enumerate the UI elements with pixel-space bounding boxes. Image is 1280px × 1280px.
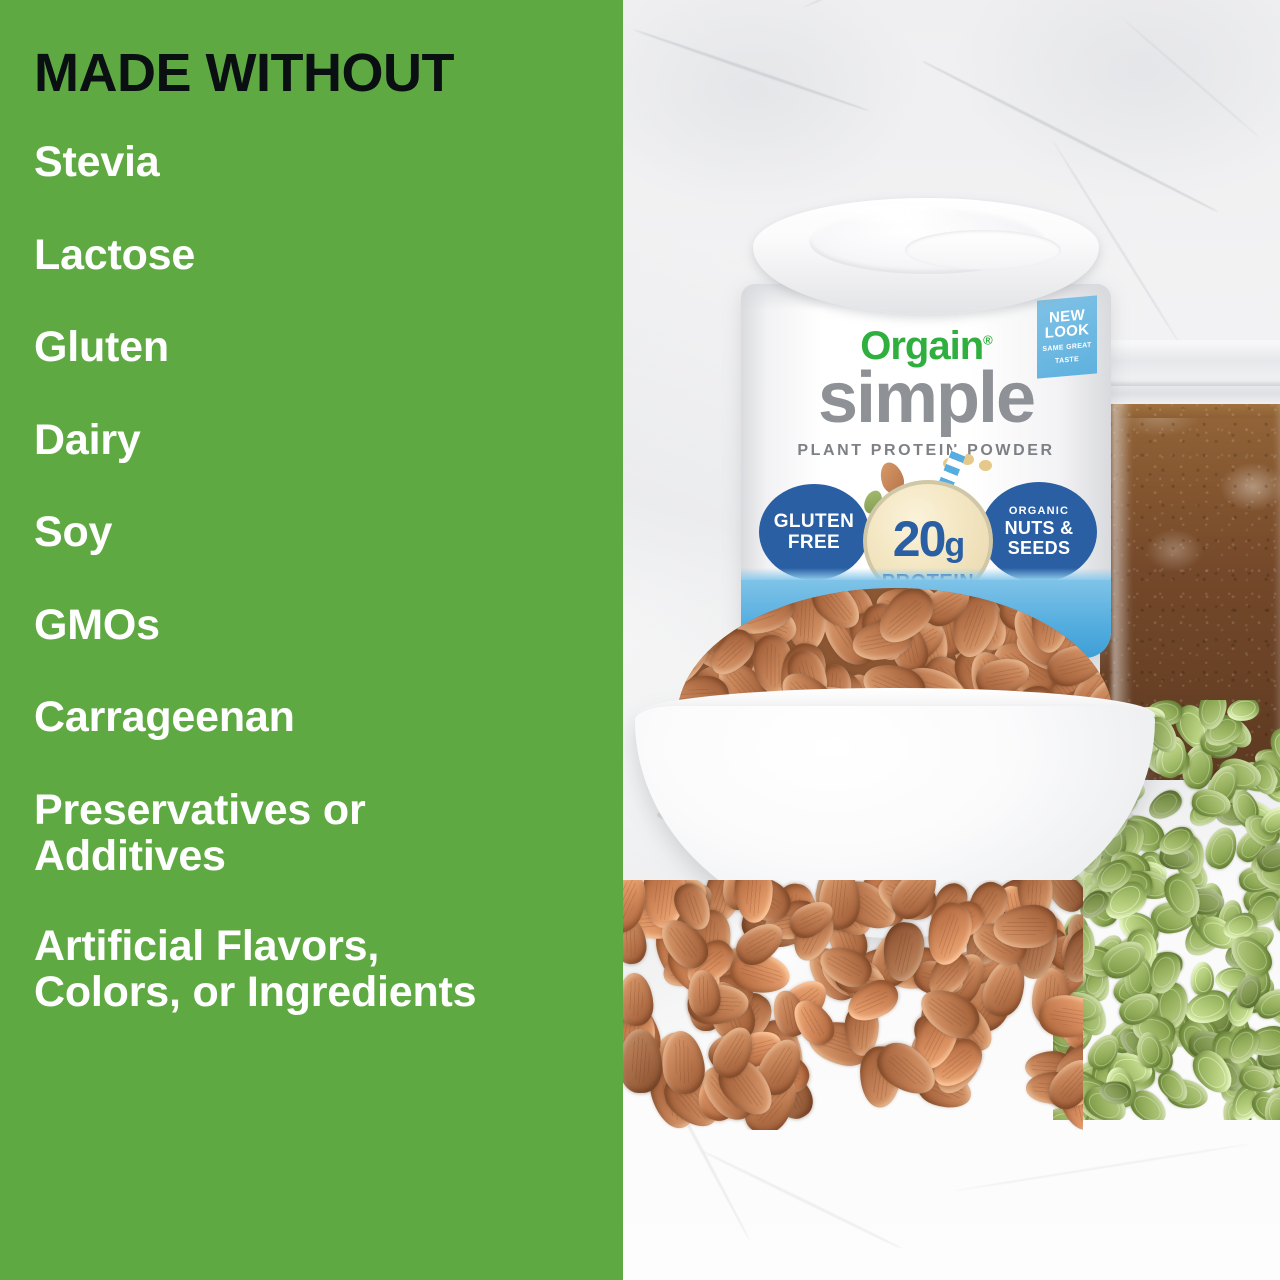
jar-rim (1098, 340, 1280, 386)
almond (1038, 994, 1083, 1040)
gluten-free-line1: GLUTEN (774, 511, 855, 532)
list-item: Preservatives or Additives (34, 788, 623, 879)
new-look-line2: LOOK (1045, 322, 1090, 342)
tub-lid-center (905, 230, 1061, 270)
excluded-ingredient-label: Dairy (34, 418, 623, 464)
pumpkin-seed (1190, 961, 1214, 995)
excluded-ingredient-label-cont: Colors, or Ingredients (34, 970, 623, 1016)
list-item: Gluten (34, 325, 623, 371)
list-item: Soy (34, 510, 623, 556)
protein-amount-number: 20 (893, 511, 945, 567)
oat-illustration (979, 460, 992, 471)
gluten-free-badge: GLUTEN FREE (759, 484, 869, 580)
almond (623, 972, 654, 1027)
marble-vein (702, 1150, 901, 1249)
nuts-seeds-line1: ORGANIC (1009, 505, 1069, 517)
protein-amount: 20g (893, 510, 963, 568)
list-item: Lactose (34, 233, 623, 279)
excluded-ingredients-list: Stevia Lactose Gluten Dairy Soy GMOs Car… (34, 140, 623, 1015)
marble-vein (953, 1143, 1250, 1192)
almond-scatter (623, 880, 1083, 1130)
excluded-ingredient-label: Soy (34, 510, 623, 556)
list-item: Stevia (34, 140, 623, 186)
trademark-symbol: ® (983, 333, 992, 348)
excluded-ingredient-label: Preservatives or (34, 788, 623, 834)
new-look-badge: NEW LOOK SAME GREAT TASTE (1037, 295, 1097, 378)
product-photo: Orgain® simple PLANT PROTEIN POWDER NEW … (623, 0, 1280, 1280)
excluded-ingredient-label-cont: Additives (34, 834, 623, 880)
nuts-seeds-line2: NUTS & (1005, 519, 1074, 539)
list-item: Dairy (34, 418, 623, 464)
gluten-free-line2: FREE (788, 532, 840, 553)
list-item: Artificial Flavors, Colors, or Ingredien… (34, 924, 623, 1015)
marble-shadow (623, 0, 923, 210)
excluded-ingredient-label: Lactose (34, 233, 623, 279)
new-look-line4: TASTE (1055, 356, 1079, 367)
nuts-seeds-line3: SEEDS (1008, 539, 1071, 559)
page-title: MADE WITHOUT (34, 46, 623, 100)
list-item: Carrageenan (34, 695, 623, 741)
marketing-image: MADE WITHOUT Stevia Lactose Gluten Dairy… (0, 0, 1280, 1280)
tub-lid-highlight (827, 204, 967, 224)
excluded-ingredient-label: Carrageenan (34, 695, 623, 741)
made-without-panel: MADE WITHOUT Stevia Lactose Gluten Dairy… (0, 0, 623, 1280)
excluded-ingredient-label: Gluten (34, 325, 623, 371)
excluded-ingredient-label: Stevia (34, 140, 623, 186)
excluded-ingredient-label: Artificial Flavors, (34, 924, 623, 970)
list-item: GMOs (34, 603, 623, 649)
product-subtitle: PLANT PROTEIN POWDER (741, 442, 1111, 460)
tub-band-fade (741, 568, 1111, 580)
protein-amount-unit: g (944, 526, 963, 564)
new-look-line3: SAME GREAT (1042, 342, 1091, 355)
nuts-seeds-badge: ORGANIC NUTS & SEEDS (981, 482, 1097, 582)
excluded-ingredient-label: GMOs (34, 603, 623, 649)
